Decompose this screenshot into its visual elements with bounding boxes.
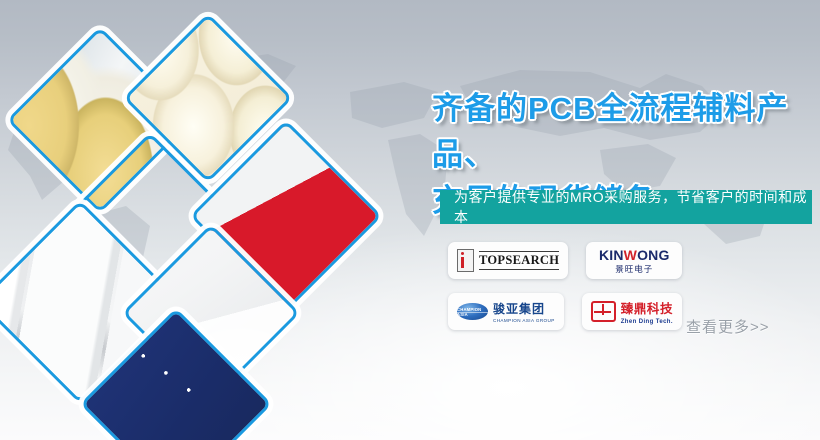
- topsearch-wordmark: TOPSEARCH: [479, 251, 559, 270]
- collage-tile-nylon-blocks: [123, 13, 293, 183]
- zhen-ding-en-name: Zhen Ding Tech.: [621, 319, 673, 325]
- champion-asia-en-name: CHAMPION ASIA GROUP: [493, 319, 555, 324]
- collage-tile-blue-board: [80, 308, 272, 440]
- kinwong-cn-name: 景旺电子: [615, 265, 653, 274]
- collage-tile-label-sheet: JIE: [122, 224, 300, 402]
- globe-icon: CHAMPION ASIA: [457, 303, 488, 320]
- collage-tile-color-sheets: [190, 120, 382, 312]
- collage-tile-film-rolls: [0, 200, 182, 404]
- partner-logo-kinwong[interactable]: KINWONG 景旺电子: [586, 242, 682, 279]
- topsearch-mark-icon: [457, 249, 474, 272]
- subtitle-bar: 为客户提供专业的MRO采购服务，节省客户的时间和成本: [440, 190, 812, 224]
- champion-asia-cn-name: 骏亚集团: [493, 300, 555, 317]
- zhen-ding-mark-icon: [591, 301, 616, 322]
- partner-logo-zhen-ding[interactable]: 臻鼎科技 Zhen Ding Tech.: [582, 293, 682, 330]
- kinwong-en-part2: ONG: [637, 247, 670, 263]
- kinwong-en-part1: KIN: [599, 247, 624, 263]
- kinwong-en-accent: W: [624, 247, 637, 263]
- collage-tile-tape-rolls: [7, 27, 194, 214]
- partner-logo-topsearch[interactable]: TOPSEARCH: [448, 242, 568, 279]
- subtitle-text: 为客户提供专业的MRO采购服务，节省客户的时间和成本: [440, 187, 812, 227]
- kinwong-mark-icon: KINWONG 景旺电子: [599, 247, 670, 274]
- collage-tile-grinding-wheels: [62, 132, 237, 307]
- globe-label: CHAMPION ASIA: [457, 307, 488, 317]
- partner-logo-champion-asia[interactable]: CHAMPION ASIA 骏亚集团 CHAMPION ASIA GROUP: [448, 293, 564, 330]
- collage-label-text: JIE: [185, 361, 216, 382]
- product-photo-collage: JIE: [0, 18, 440, 440]
- promo-banner: JIE 齐备的PCB全流程辅料产品、 充足的现货储备 为客户提供专业的MRO采购…: [0, 0, 820, 440]
- zhen-ding-cn-name: 臻鼎科技: [621, 298, 673, 317]
- view-more-link[interactable]: 查看更多>>: [686, 316, 770, 337]
